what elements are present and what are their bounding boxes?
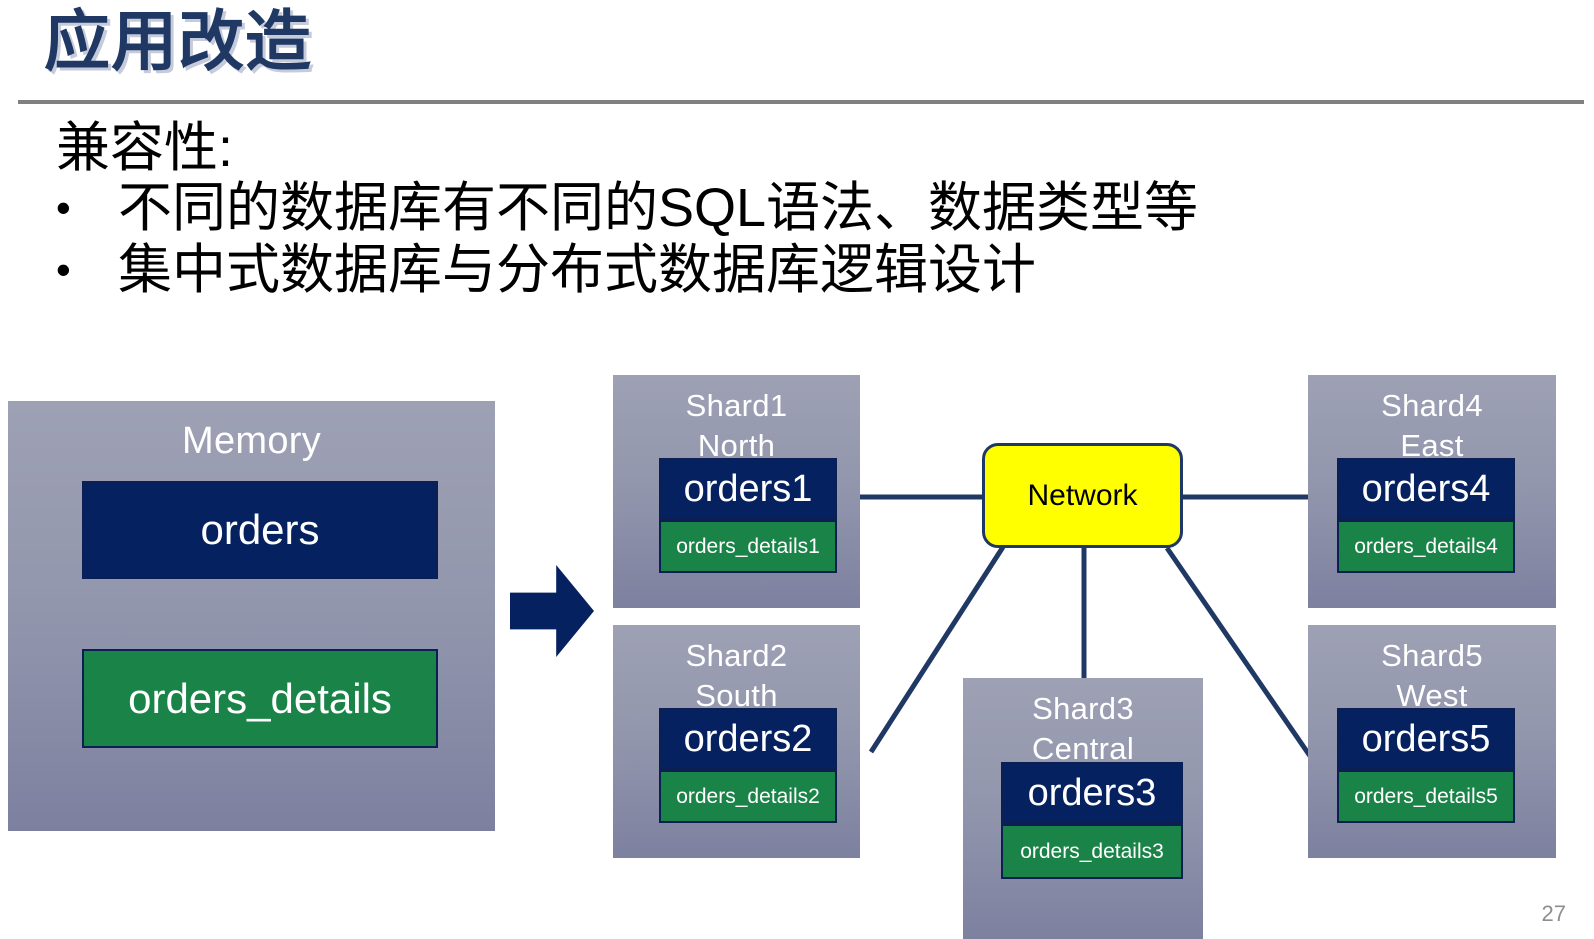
shard4-container: Shard4 East orders4 orders_details4 [1308, 375, 1556, 608]
table-orders3: orders3 [1001, 762, 1183, 824]
shard3-container: Shard3 Central orders3 orders_details3 [963, 678, 1203, 939]
shard3-name: Shard3 [1032, 691, 1134, 726]
shard5-label: Shard5 West [1308, 636, 1556, 715]
table-orders4: orders4 [1337, 458, 1515, 520]
table-orders1: orders1 [659, 458, 837, 520]
right-arrow-icon [510, 565, 594, 657]
page-number: 27 [1542, 901, 1566, 927]
memory-label: Memory [8, 417, 495, 466]
shard3-region: Central [1032, 731, 1134, 766]
table-orders-details1: orders_details1 [659, 520, 837, 573]
network-node: Network [982, 443, 1183, 548]
shard2-label: Shard2 South [613, 636, 860, 715]
table-orders-details2: orders_details2 [659, 770, 837, 823]
shard2-container: Shard2 South orders2 orders_details2 [613, 625, 860, 858]
table-orders2: orders2 [659, 708, 837, 770]
memory-container: Memory orders orders_details [8, 401, 495, 831]
shard1-name: Shard1 [686, 388, 788, 423]
table-orders5: orders5 [1337, 708, 1515, 770]
shard4-name: Shard4 [1381, 388, 1483, 423]
shard5-name: Shard5 [1381, 638, 1483, 673]
shard1-label: Shard1 North [613, 386, 860, 465]
table-orders-details3: orders_details3 [1001, 824, 1183, 879]
table-orders-details: orders_details [82, 649, 438, 748]
shard5-container: Shard5 West orders5 orders_details5 [1308, 625, 1556, 858]
architecture-diagram: Memory orders orders_details Shard1 Nort… [0, 0, 1594, 939]
shard1-container: Shard1 North orders1 orders_details1 [613, 375, 860, 608]
shard2-name: Shard2 [686, 638, 788, 673]
table-orders: orders [82, 481, 438, 579]
table-orders-details4: orders_details4 [1337, 520, 1515, 573]
shard3-label: Shard3 Central [963, 689, 1203, 768]
shard4-label: Shard4 East [1308, 386, 1556, 465]
table-orders-details5: orders_details5 [1337, 770, 1515, 823]
